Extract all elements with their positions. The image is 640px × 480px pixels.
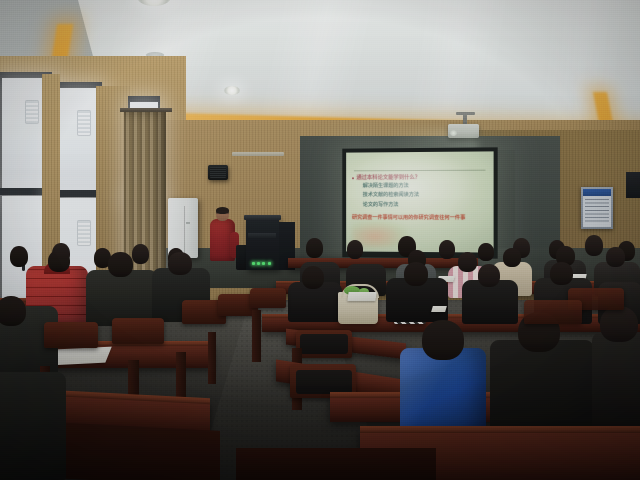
handout-paper (347, 292, 376, 301)
desk-edge (360, 426, 640, 433)
projection-screen[interactable]: 通过本科论文能学到什么？ 解决陌生课题的方法 技术文献的检索阅读方法 论文的写作… (342, 147, 497, 258)
wall-air-vent-icon (232, 152, 284, 156)
exterior-ac-unit-icon (77, 220, 91, 246)
av-rack-shelf (248, 233, 276, 238)
attendee-head (306, 238, 323, 258)
chair-back[interactable] (44, 322, 98, 348)
attendee-head (439, 240, 455, 259)
window-glass (58, 88, 99, 192)
status-led-icon (262, 262, 265, 265)
status-led-icon (268, 262, 271, 265)
attendee-torso (490, 340, 594, 434)
attendee-head (600, 306, 638, 342)
attendee-head (132, 244, 149, 264)
cabinet-door-seam (184, 206, 185, 254)
attendee-head (585, 235, 603, 256)
chair-back[interactable] (250, 288, 286, 308)
chair-pad (296, 370, 352, 394)
attendee-torso (592, 332, 640, 430)
projector-lens-icon (450, 130, 457, 136)
handout-paper (431, 306, 447, 312)
lecture-hall-photo: 通过本科论文能学到什么？ 解决陌生课题的方法 技术文献的检索阅读方法 论文的写作… (0, 0, 640, 480)
status-led-icon (252, 262, 255, 265)
projection-screen-glow (346, 151, 493, 252)
attendee-head (0, 296, 26, 326)
status-led-icon (257, 262, 260, 265)
desk-foreground-panel (236, 448, 436, 480)
attendee-head (168, 252, 192, 275)
speaker-grille-icon (210, 167, 226, 178)
jacket-highlight (400, 348, 486, 434)
desk-leg (208, 332, 216, 384)
notice-board-text-lines (585, 199, 609, 224)
chair-back[interactable] (112, 318, 164, 344)
wall-speaker-right (626, 172, 640, 198)
attendee-head (108, 252, 133, 277)
notice-board-header (583, 189, 611, 196)
exterior-ac-unit-icon (77, 110, 91, 136)
attendee-head (478, 264, 500, 287)
av-rack-top-panel (244, 215, 281, 220)
desk-leg (252, 310, 261, 362)
presenter-hair (216, 207, 229, 214)
chair-pad (300, 334, 348, 354)
attendee-head (503, 248, 521, 267)
handout-paper (50, 347, 112, 366)
attendee-head (302, 266, 324, 289)
attendee-head (478, 243, 494, 261)
attendee-head (606, 247, 625, 267)
cabinet-handle[interactable] (186, 222, 190, 224)
exterior-ac-unit-icon (25, 100, 39, 124)
attendee-torso (0, 372, 66, 480)
ceiling-downlight-icon (224, 86, 240, 95)
attendee-head (10, 246, 28, 267)
attendee-head (422, 320, 464, 360)
chair-back[interactable] (524, 300, 582, 324)
attendee-head (458, 252, 477, 272)
attendee-head (347, 240, 363, 259)
attendee-head (404, 262, 428, 286)
attendee-head (48, 250, 70, 272)
attendee-head (550, 262, 573, 285)
